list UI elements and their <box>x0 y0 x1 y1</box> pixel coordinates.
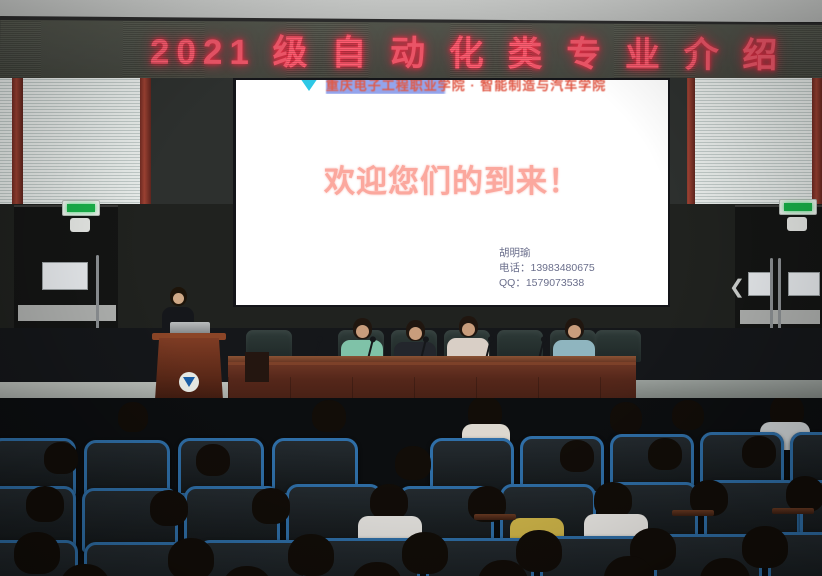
led-banner-text: 2021 级 自 动 化 类 专 业 介 绍 <box>150 34 822 73</box>
audience-armrest <box>772 508 814 514</box>
audience-head <box>26 486 64 522</box>
audience-head <box>786 476 822 512</box>
panel-member-2-head <box>406 320 425 341</box>
institute-logo-icon <box>298 80 320 91</box>
audience-head <box>672 400 704 430</box>
auditorium-photo: 2021 级 自 动 化 类 专 业 介 绍 ❮ 重庆电子工程职业学院 · 智能… <box>0 0 822 576</box>
slide-contact-block: 胡明瑜 电话：13983480675 QQ：1579073538 <box>499 246 595 292</box>
audience-head <box>742 526 788 568</box>
audience-head <box>44 442 78 474</box>
projection-screen: 重庆电子工程职业学院 · 智能制造与汽车学院 欢迎您们的到来！ 胡明瑜 电话：1… <box>236 80 668 305</box>
panel-member-4-head <box>565 318 584 339</box>
slide-welcome-text: 欢迎您们的到来！ <box>236 156 668 201</box>
contact-qq: QQ：1579073538 <box>499 276 595 291</box>
door-strip-left <box>18 305 116 321</box>
wall-panel-right <box>690 78 822 206</box>
speaker-head <box>170 287 187 306</box>
wall-pillar-2 <box>140 78 151 208</box>
audience-armrest <box>474 514 516 520</box>
audience-head <box>150 490 188 526</box>
exit-sign-icon-left <box>62 200 100 216</box>
audience-head <box>370 484 408 520</box>
audience-head <box>196 444 230 476</box>
panel-member-3-head <box>459 316 478 337</box>
door-notice-right-1 <box>748 272 772 296</box>
wall-panel-left <box>14 78 146 206</box>
slide-header-text: 重庆电子工程职业学院 · 智能制造与汽车学院 <box>326 80 607 94</box>
audience-head <box>610 402 642 434</box>
smoke-detector-icon-left <box>70 218 90 232</box>
audience-head <box>560 440 594 472</box>
smoke-detector-icon-right <box>787 217 807 231</box>
wall-pillar-1 <box>12 78 23 208</box>
audience-head <box>648 438 682 470</box>
institute-emblem-icon <box>179 372 199 392</box>
led-banner: 2021 级 自 动 化 类 专 业 介 绍 <box>0 20 822 87</box>
audience-head <box>252 488 290 524</box>
wall-pillar-4 <box>812 78 822 208</box>
slide-header: 重庆电子工程职业学院 · 智能制造与汽车学院 <box>236 80 668 94</box>
audience-head <box>516 530 562 572</box>
stage-side-cabinet <box>245 352 269 382</box>
contact-phone: 电话：13983480675 <box>499 261 595 276</box>
audience-head <box>594 482 632 518</box>
audience-head <box>14 532 60 574</box>
audience-area <box>0 398 822 576</box>
audience-head <box>402 532 448 574</box>
wall-panel-far-left <box>0 78 12 206</box>
panel-member-1-head <box>353 318 372 339</box>
audience-armrest <box>672 510 714 516</box>
audience-head <box>288 534 334 576</box>
door-notice-left <box>42 262 88 290</box>
podium <box>155 338 223 400</box>
exit-sign-icon-right <box>779 199 817 215</box>
chevron-left-icon: ❮ <box>729 278 745 297</box>
audience-head <box>168 538 214 576</box>
audience-head <box>118 402 148 432</box>
audience-head <box>395 446 431 480</box>
contact-name: 胡明瑜 <box>499 246 595 261</box>
audience-head <box>312 400 346 432</box>
door-notice-right-2 <box>788 272 820 296</box>
audience-head <box>742 436 776 468</box>
